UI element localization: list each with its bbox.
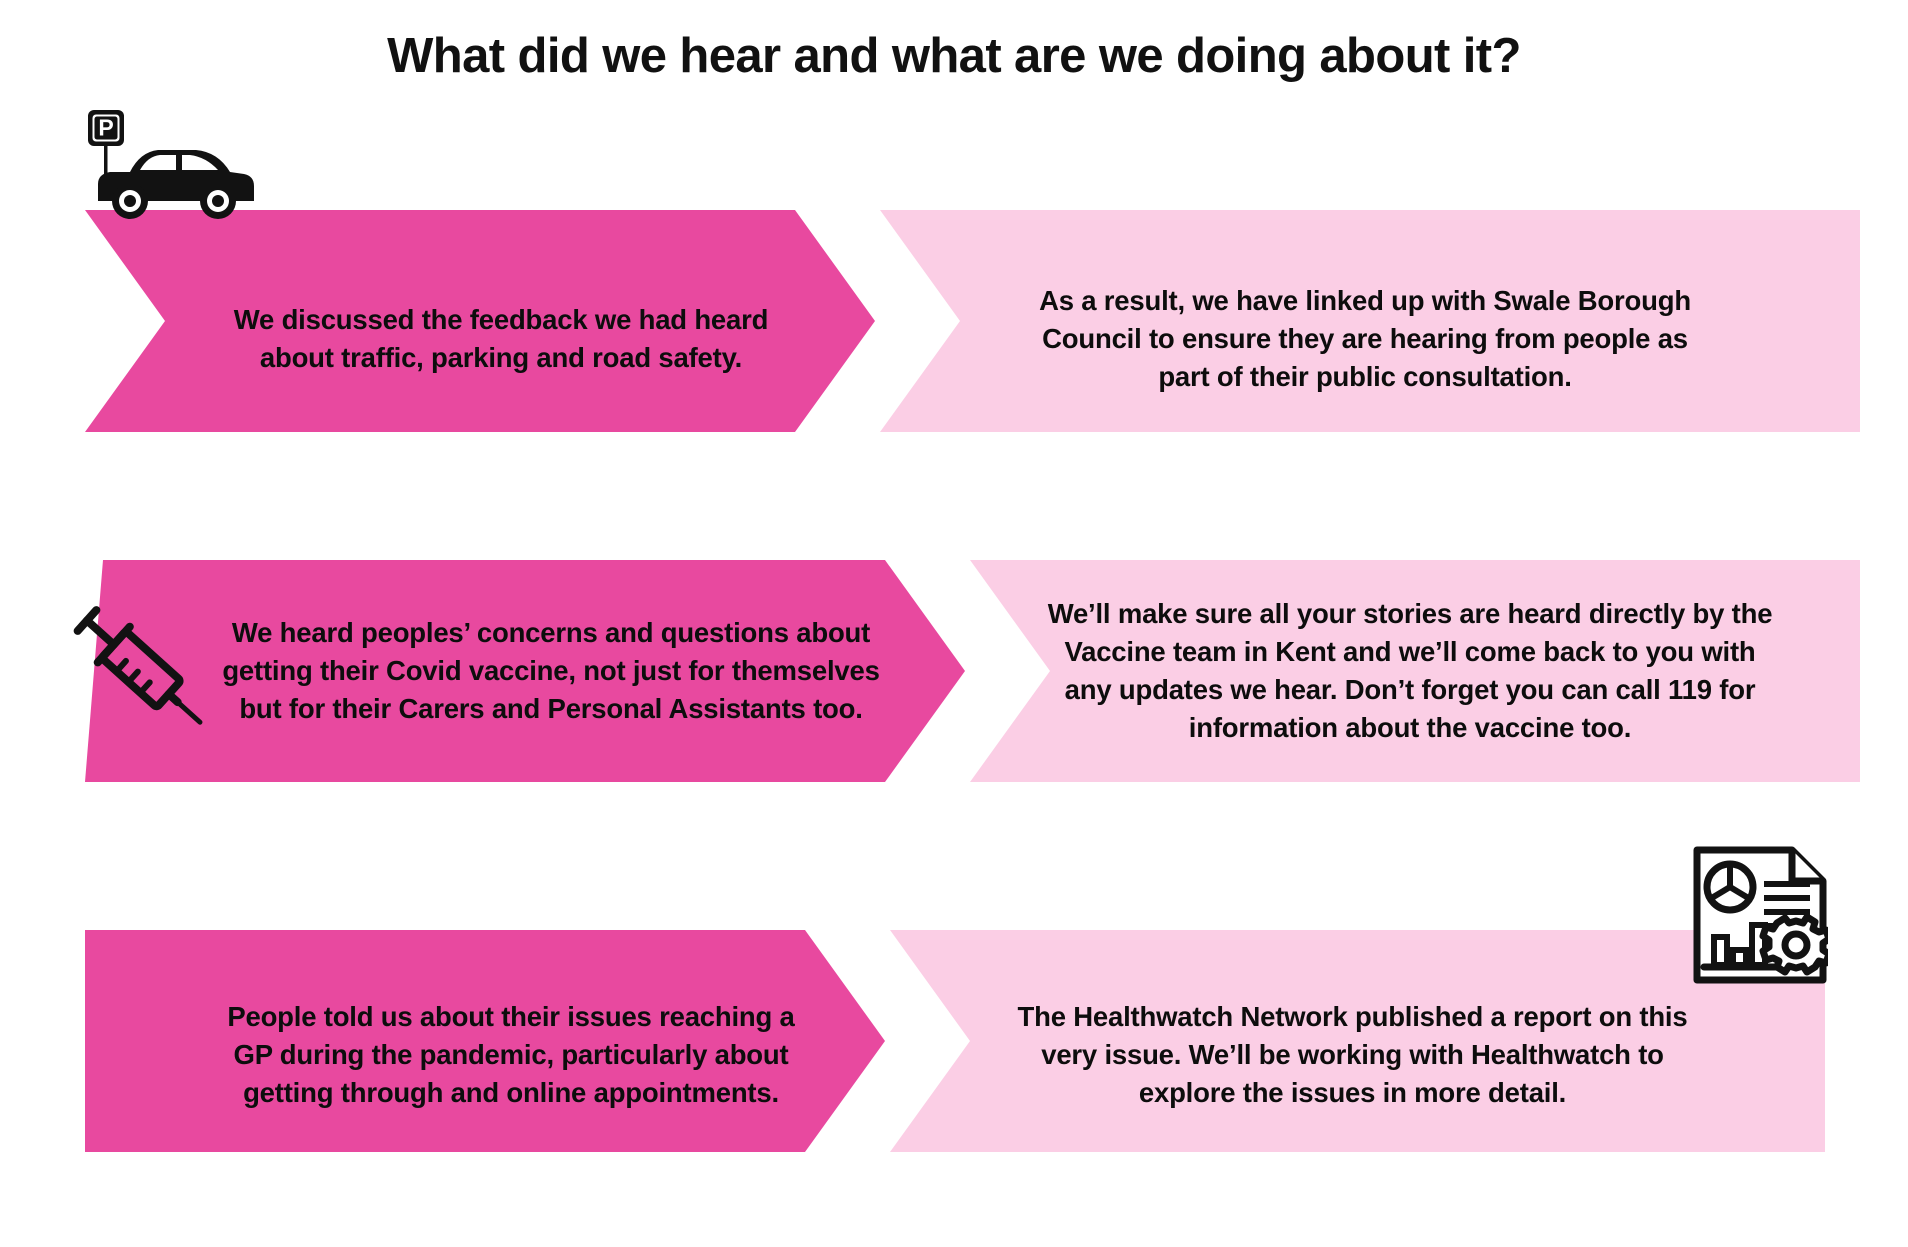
- infographic-row-1: We discussed the feedback we had heard a…: [0, 210, 1908, 432]
- infographic-page: What did we hear and what are we doing a…: [0, 0, 1908, 1247]
- doing-text-1: As a result, we have linked up with Swal…: [1015, 282, 1715, 396]
- infographic-row-3: People told us about their issues reachi…: [0, 930, 1908, 1152]
- heard-text-2: We heard peoples’ concerns and questions…: [221, 614, 881, 728]
- parking-car-icon: P: [78, 108, 258, 223]
- heard-text-3: People told us about their issues reachi…: [216, 998, 806, 1112]
- doing-chevron-1: As a result, we have linked up with Swal…: [800, 210, 1860, 432]
- doing-text-3: The Healthwatch Network published a repo…: [1008, 998, 1698, 1112]
- heard-chevron-1: We discussed the feedback we had heard a…: [85, 210, 875, 432]
- doing-text-2: We’ll make sure all your stories are hea…: [1040, 595, 1780, 747]
- heard-chevron-3: People told us about their issues reachi…: [85, 930, 885, 1152]
- heard-text-1: We discussed the feedback we had heard a…: [221, 301, 781, 377]
- svg-text:P: P: [98, 115, 113, 141]
- doing-chevron-2: We’ll make sure all your stories are hea…: [890, 560, 1860, 782]
- page-title: What did we hear and what are we doing a…: [0, 28, 1908, 84]
- syringe-icon: [62, 598, 222, 743]
- doing-chevron-3: The Healthwatch Network published a repo…: [810, 930, 1825, 1152]
- infographic-row-2: We heard peoples’ concerns and questions…: [0, 560, 1908, 782]
- report-icon: [1692, 845, 1828, 985]
